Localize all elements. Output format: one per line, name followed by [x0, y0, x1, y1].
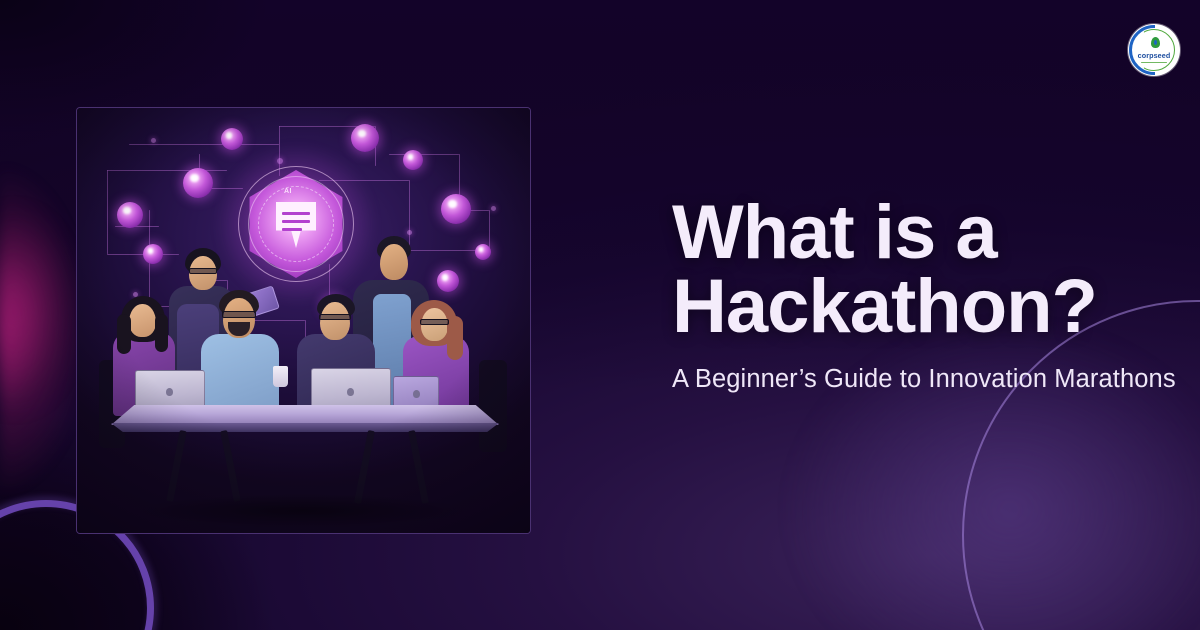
- logo-underline: [1141, 62, 1167, 63]
- corpseed-logo[interactable]: corpseed: [1128, 24, 1180, 76]
- headline-block: What is a Hackathon? A Beginner’s Guide …: [672, 196, 1192, 394]
- page-subtitle: A Beginner’s Guide to Innovation Maratho…: [672, 365, 1192, 394]
- title-line-1: What is a: [672, 196, 1192, 270]
- title-line-2: Hackathon?: [672, 270, 1192, 344]
- leaf-droplet-icon: [1151, 37, 1160, 48]
- page-title: What is a Hackathon?: [672, 196, 1192, 343]
- hackathon-banner: corpseed: [0, 0, 1200, 630]
- illustration-vignette: [77, 108, 530, 533]
- logo-brand-text: corpseed: [1128, 51, 1180, 60]
- hackathon-illustration: AI: [76, 107, 531, 534]
